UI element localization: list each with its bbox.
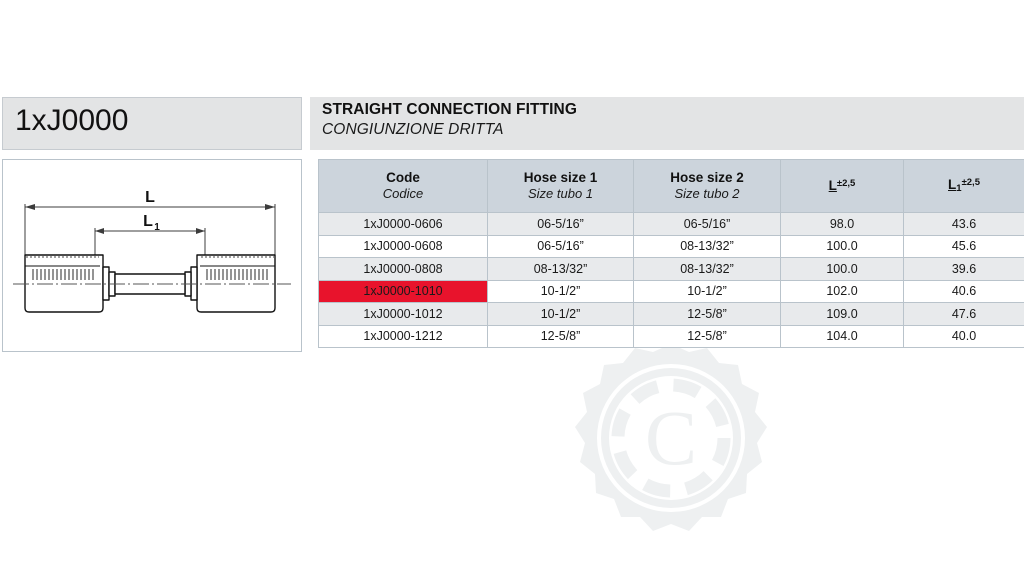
table-row[interactable]: 1xJ0000-101010-1/2”10-1/2”102.040.6	[319, 280, 1024, 303]
watermark-gear-logo: C	[556, 338, 786, 568]
cell-hose-size-2: 08-13/32”	[634, 258, 781, 281]
column-header-length-l1-symbol: L1±2,5	[904, 177, 1024, 195]
svg-text:L: L	[143, 213, 153, 230]
table-row[interactable]: 1xJ0000-080808-13/32”08-13/32”100.039.6	[319, 258, 1024, 281]
cell-length-l1: 45.6	[904, 235, 1024, 258]
dimension-label-L: L	[145, 189, 155, 206]
column-header-code: Code Codice	[319, 160, 488, 213]
cell-length-l: 98.0	[781, 213, 904, 236]
straight-connection-fitting-diagram: L L 1	[3, 160, 301, 351]
cell-code[interactable]: 1xJ0000-1212	[319, 325, 488, 348]
cell-hose-size-1: 10-1/2”	[488, 303, 634, 326]
svg-text:1: 1	[154, 222, 160, 233]
column-header-hose-size-1: Hose size 1 Size tubo 1	[488, 160, 634, 213]
technical-drawing-panel: L L 1	[2, 159, 302, 352]
cell-length-l1: 40.0	[904, 325, 1024, 348]
table-row[interactable]: 1xJ0000-060606-5/16”06-5/16”98.043.6	[319, 213, 1024, 236]
page-header: 1xJ0000 STRAIGHT CONNECTION FITTING CONG…	[0, 97, 1024, 150]
table-header-row: Code Codice Hose size 1 Size tubo 1 Hose…	[319, 160, 1024, 213]
page-title: 1xJ0000	[15, 104, 128, 138]
table-body: 1xJ0000-060606-5/16”06-5/16”98.043.61xJ0…	[319, 213, 1024, 348]
dimension-label-L1: L 1	[143, 213, 160, 233]
cell-hose-size-2: 08-13/32”	[634, 235, 781, 258]
cell-length-l1: 43.6	[904, 213, 1024, 236]
column-header-hose-size-1-en: Hose size 1	[488, 170, 633, 186]
cell-hose-size-2: 06-5/16”	[634, 213, 781, 236]
cell-length-l1: 39.6	[904, 258, 1024, 281]
cell-hose-size-1: 10-1/2”	[488, 280, 634, 303]
product-title-block: STRAIGHT CONNECTION FITTING CONGIUNZIONE…	[310, 97, 1024, 150]
cell-code[interactable]: 1xJ0000-0606	[319, 213, 488, 236]
cell-hose-size-2: 10-1/2”	[634, 280, 781, 303]
cell-code[interactable]: 1xJ0000-1012	[319, 303, 488, 326]
column-header-length-l1: L1±2,5	[904, 160, 1024, 213]
cell-hose-size-2: 12-5/8”	[634, 303, 781, 326]
cell-length-l1: 47.6	[904, 303, 1024, 326]
cell-length-l: 109.0	[781, 303, 904, 326]
cell-length-l: 104.0	[781, 325, 904, 348]
column-header-hose-size-1-it: Size tubo 1	[488, 187, 633, 202]
symbol-tolerance-l1: ±2,5	[962, 177, 980, 188]
column-header-hose-size-2-it: Size tubo 2	[634, 187, 780, 202]
product-title-en: STRAIGHT CONNECTION FITTING	[322, 101, 577, 119]
cell-code[interactable]: 1xJ0000-0808	[319, 258, 488, 281]
table-row[interactable]: 1xJ0000-060806-5/16”08-13/32”100.045.6	[319, 235, 1024, 258]
cell-hose-size-1: 06-5/16”	[488, 235, 634, 258]
product-title-it: CONGIUNZIONE DRITTA	[322, 121, 504, 139]
cell-hose-size-1: 06-5/16”	[488, 213, 634, 236]
column-header-code-en: Code	[319, 170, 487, 186]
column-header-length-l-symbol: L±2,5	[781, 178, 903, 194]
cell-hose-size-1: 08-13/32”	[488, 258, 634, 281]
watermark-letter: C	[645, 394, 697, 481]
symbol-tolerance-l: ±2,5	[837, 178, 855, 189]
column-header-hose-size-2: Hose size 2 Size tubo 2	[634, 160, 781, 213]
cell-hose-size-2: 12-5/8”	[634, 325, 781, 348]
table-header: Code Codice Hose size 1 Size tubo 1 Hose…	[319, 160, 1024, 213]
fitting-body	[25, 255, 275, 312]
specification-table: Code Codice Hose size 1 Size tubo 1 Hose…	[318, 159, 1024, 348]
cell-length-l: 100.0	[781, 235, 904, 258]
cell-length-l1: 40.6	[904, 280, 1024, 303]
cell-code[interactable]: 1xJ0000-1010	[319, 280, 488, 303]
column-header-length-l: L±2,5	[781, 160, 904, 213]
symbol-base-l: L	[829, 178, 837, 193]
table-row[interactable]: 1xJ0000-101210-1/2”12-5/8”109.047.6	[319, 303, 1024, 326]
column-header-hose-size-2-en: Hose size 2	[634, 170, 780, 186]
cell-hose-size-1: 12-5/8”	[488, 325, 634, 348]
cell-length-l: 102.0	[781, 280, 904, 303]
product-code-badge: 1xJ0000	[2, 97, 302, 150]
cell-code[interactable]: 1xJ0000-0608	[319, 235, 488, 258]
table-row[interactable]: 1xJ0000-121212-5/8”12-5/8”104.040.0	[319, 325, 1024, 348]
column-header-code-it: Codice	[319, 187, 487, 202]
cell-length-l: 100.0	[781, 258, 904, 281]
